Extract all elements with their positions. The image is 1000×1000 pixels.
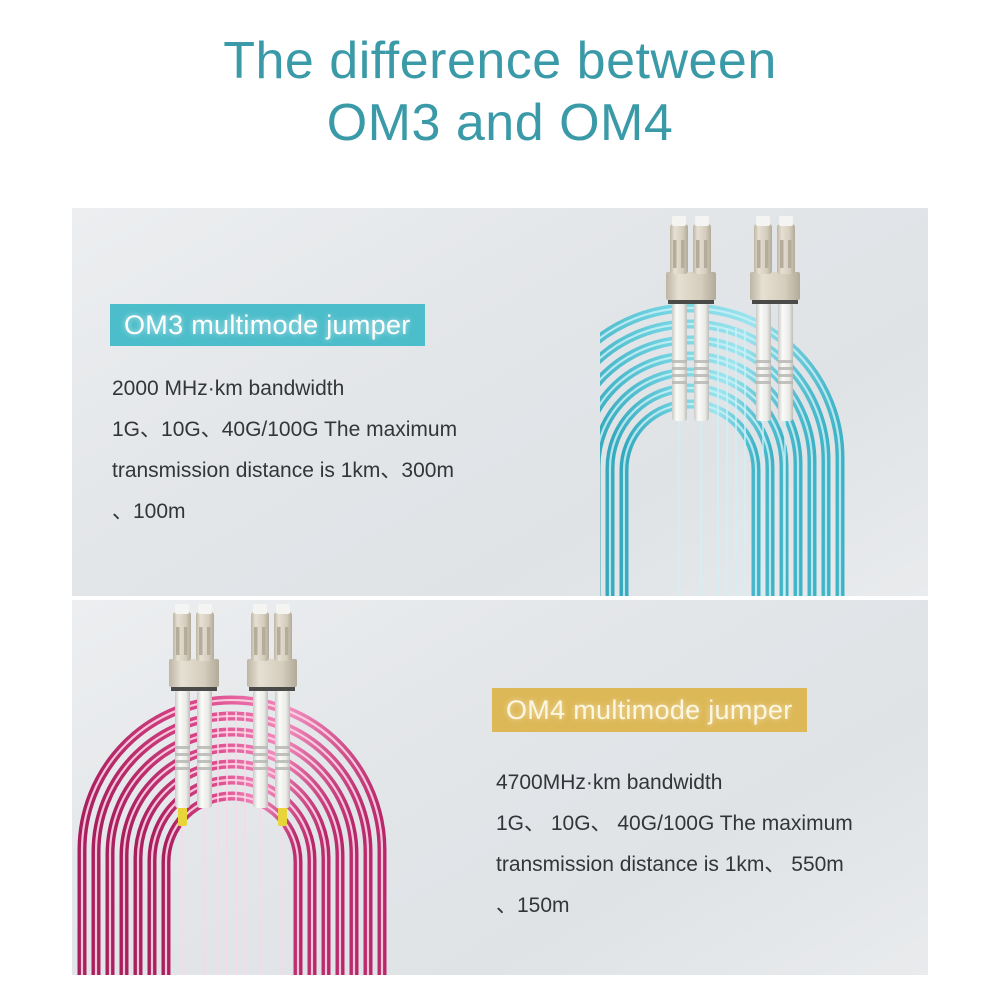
om3-cable-illustration bbox=[600, 208, 928, 596]
om4-spec-text: 4700MHz·km bandwidth 1G、 10G、 40G/100G T… bbox=[496, 762, 853, 926]
om4-badge-label: OM4 multimode jumper bbox=[506, 695, 793, 726]
om4-spec-line-1: 4700MHz·km bandwidth bbox=[496, 762, 853, 803]
om3-badge-label: OM3 multimode jumper bbox=[124, 310, 411, 341]
om3-spec-line-1: 2000 MHz·km bandwidth bbox=[112, 368, 457, 409]
om3-spec-line-4: 、100m bbox=[112, 491, 457, 532]
om4-spec-line-3: transmission distance is 1km、 550m bbox=[496, 844, 853, 885]
page-title-line-1: The difference between bbox=[0, 30, 1000, 92]
om3-spec-line-3: transmission distance is 1km、300m bbox=[112, 450, 457, 491]
om4-spec-line-2: 1G、 10G、 40G/100G The maximum bbox=[496, 803, 853, 844]
om3-spec-text: 2000 MHz·km bandwidth 1G、10G、40G/100G Th… bbox=[112, 368, 457, 532]
om4-spec-line-4: 、150m bbox=[496, 885, 853, 926]
page-title: The difference between OM3 and OM4 bbox=[0, 30, 1000, 154]
om3-cable-image bbox=[600, 208, 928, 596]
page-title-line-2: OM3 and OM4 bbox=[0, 92, 1000, 154]
om3-spec-line-2: 1G、10G、40G/100G The maximum bbox=[112, 409, 457, 450]
om4-badge: OM4 multimode jumper bbox=[492, 688, 807, 732]
om3-badge: OM3 multimode jumper bbox=[110, 304, 425, 346]
om4-cable-illustration bbox=[72, 600, 412, 975]
om4-cable-image bbox=[72, 600, 412, 975]
lc-duplex-connector bbox=[750, 216, 800, 421]
